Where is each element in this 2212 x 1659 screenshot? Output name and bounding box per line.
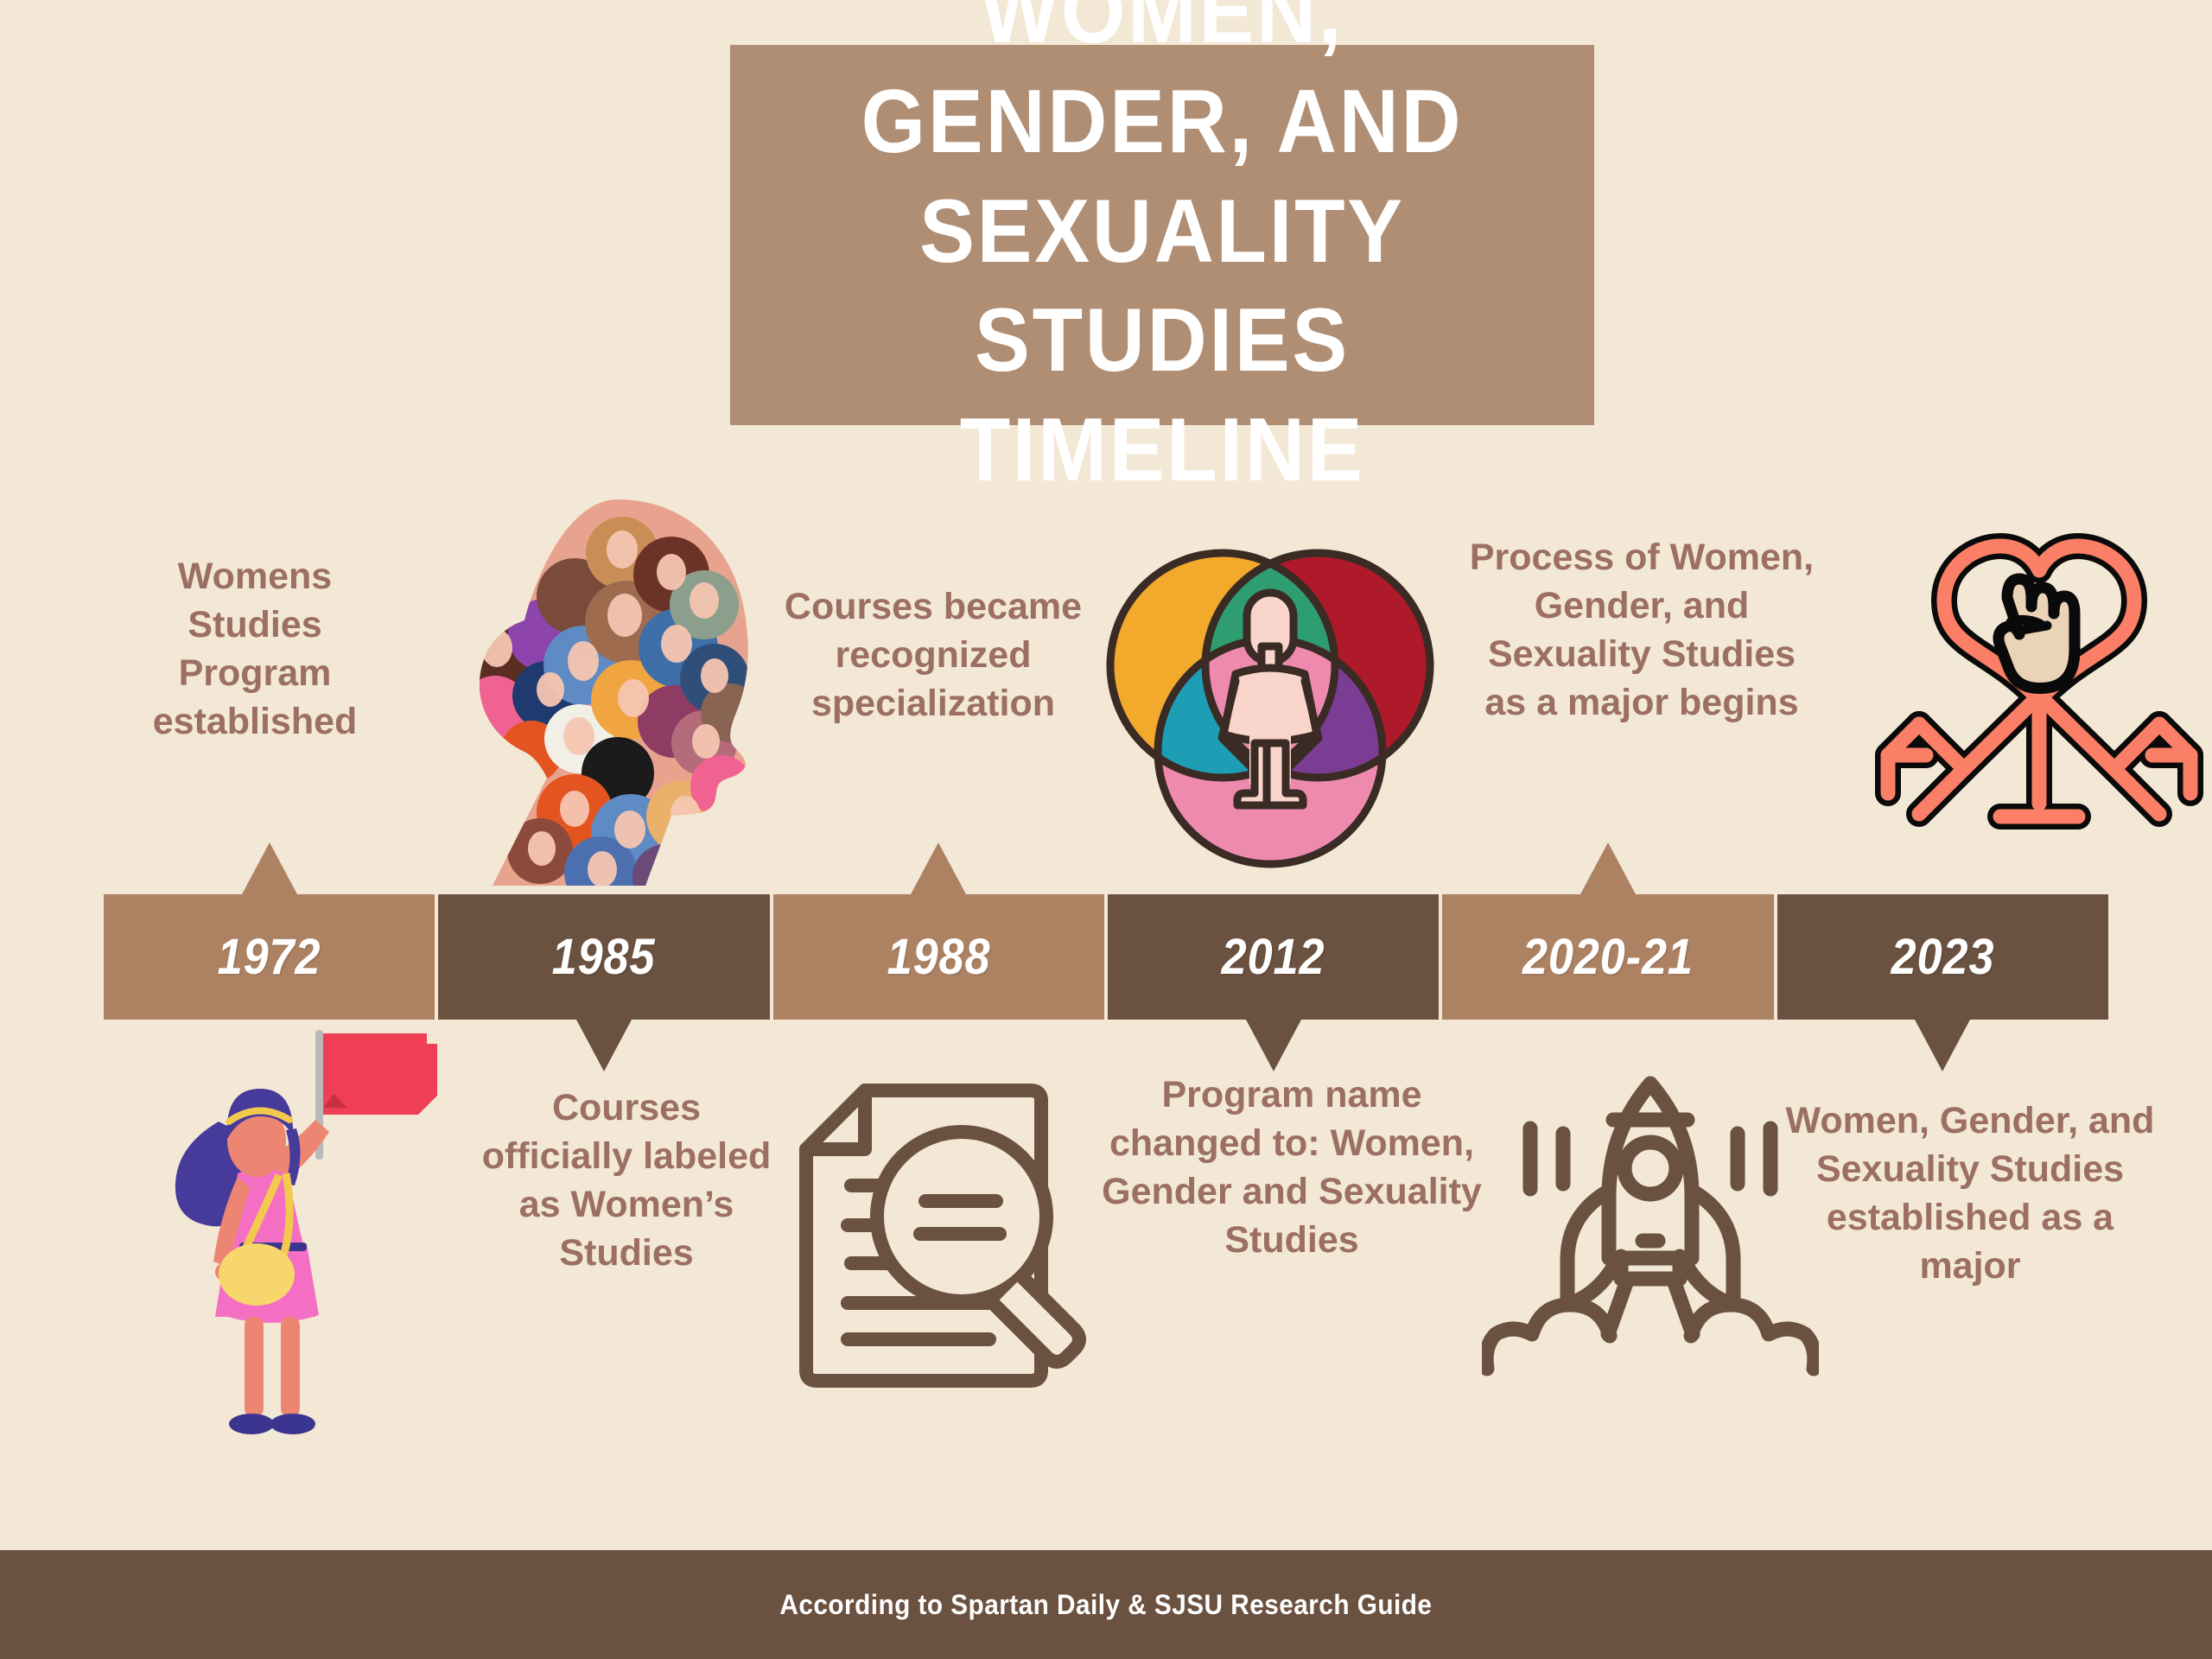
timeline-segment-2012[interactable]: 2012 — [1108, 894, 1439, 1020]
womens-head-collage-icon — [445, 493, 791, 890]
rocket-launch-icon — [1482, 1071, 1819, 1417]
year-label: 2023 — [1891, 928, 1994, 986]
event-label-2012: Program name changed to: Women, Gender a… — [1097, 1071, 1486, 1265]
year-label: 2012 — [1222, 928, 1325, 986]
woman-with-flag-icon — [108, 1028, 445, 1443]
venn-diagram-person-icon — [1097, 536, 1443, 881]
timeline-bar: 1972 1985 1988 2012 2020-21 2023 — [104, 894, 2108, 1020]
footer-source-text: According to Spartan Daily & SJSU Resear… — [780, 1589, 1433, 1621]
footer-bar: According to Spartan Daily & SJSU Resear… — [0, 1550, 2212, 1659]
timeline-segment-1972[interactable]: 1972 — [104, 894, 435, 1020]
timeline-segment-1985[interactable]: 1985 — [438, 894, 769, 1020]
pointer-down-icon — [576, 1020, 632, 1071]
year-label: 1972 — [218, 928, 321, 986]
timeline-segment-2023[interactable]: 2023 — [1777, 894, 2108, 1020]
year-label: 1985 — [552, 928, 656, 986]
year-label: 1988 — [887, 928, 990, 986]
heart-fist-gender-symbols-icon — [1862, 518, 2212, 873]
event-label-1972: Womens Studies Program established — [112, 553, 397, 747]
pointer-down-icon — [1246, 1020, 1301, 1071]
event-label-2023: Women, Gender, and Sexuality Studies est… — [1776, 1097, 2164, 1291]
year-label: 2020-21 — [1522, 928, 1694, 986]
event-label-2020-21: Process of Women, Gender, and Sexuality … — [1469, 534, 1815, 728]
title-block: WOMEN, GENDER, AND SEXUALITY STUDIES TIM… — [730, 45, 1594, 425]
event-label-1985: Courses officially labeled as Women’s St… — [480, 1084, 773, 1278]
pointer-up-icon — [911, 842, 966, 894]
page-title: WOMEN, GENDER, AND SEXUALITY STUDIES TIM… — [789, 0, 1536, 505]
pointer-down-icon — [1915, 1020, 1970, 1071]
pointer-up-icon — [1580, 842, 1636, 894]
event-label-1988: Courses became recognized specialization — [773, 583, 1093, 728]
pointer-up-icon — [242, 842, 297, 894]
document-magnifier-icon — [799, 1080, 1128, 1426]
timeline-segment-1988[interactable]: 1988 — [773, 894, 1104, 1020]
timeline-segment-2020-21[interactable]: 2020-21 — [1442, 894, 1773, 1020]
